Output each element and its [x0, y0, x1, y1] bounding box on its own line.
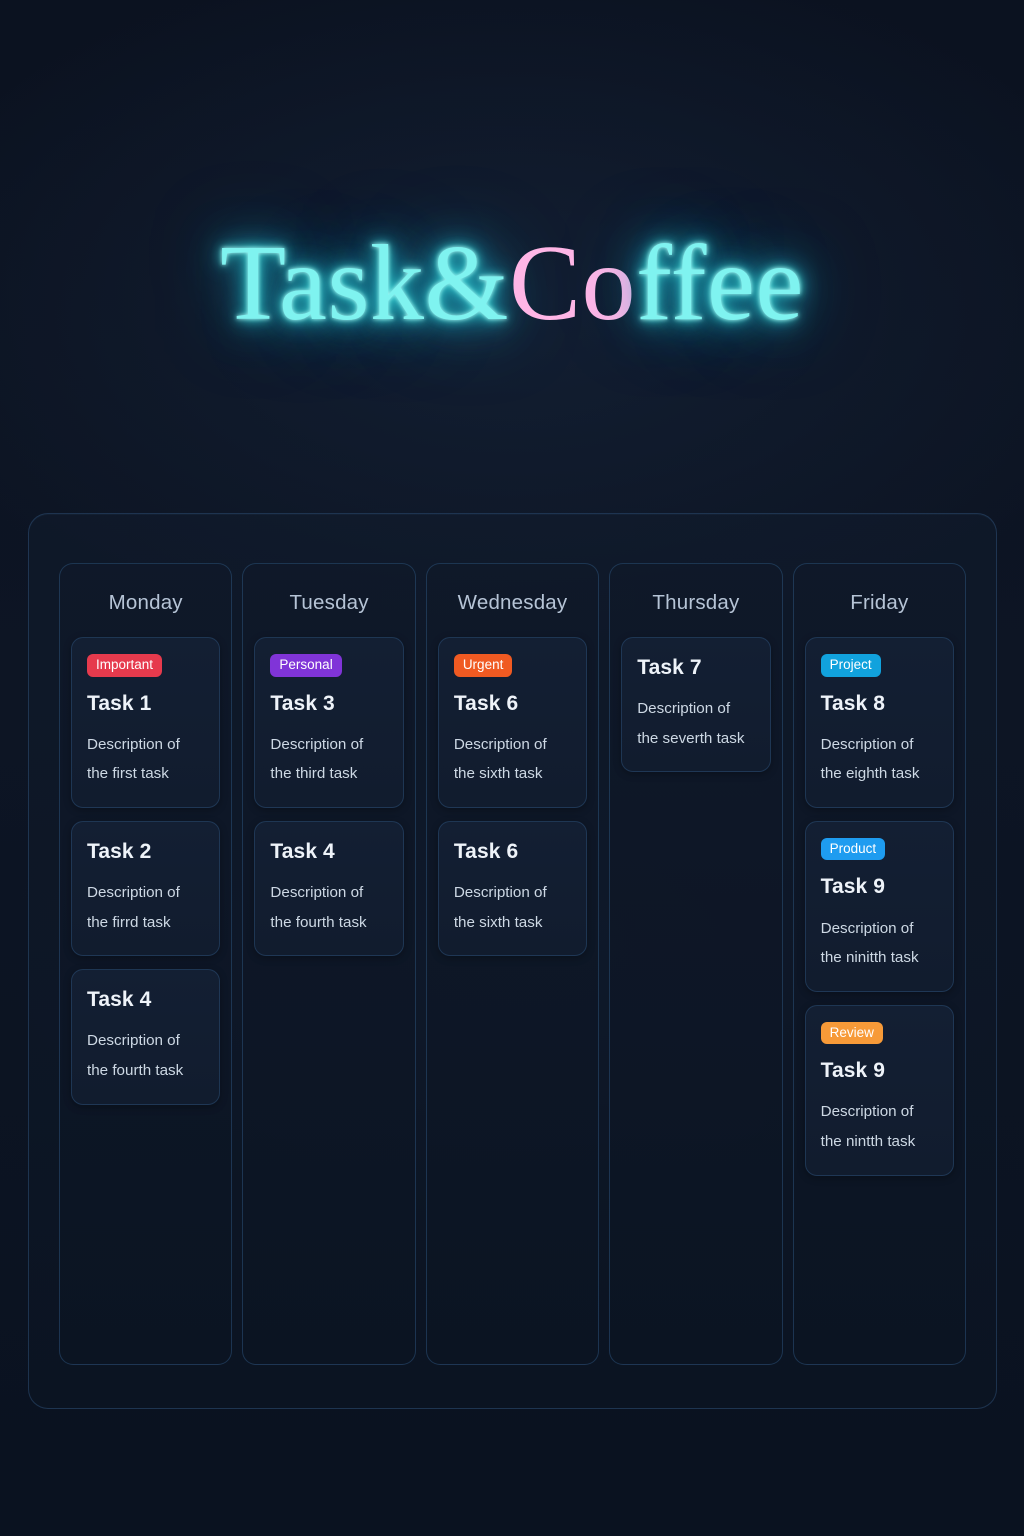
- task-title: Task 8: [821, 692, 938, 716]
- task-title: Task 7: [637, 656, 754, 680]
- task-tag-badge[interactable]: Personal: [270, 654, 341, 677]
- task-description: Description of the ninitth task: [821, 914, 938, 973]
- task-card[interactable]: Task 7Description of the severth task: [621, 637, 770, 772]
- title-segment-1: Co: [509, 224, 636, 343]
- task-title: Task 2: [87, 840, 204, 864]
- title-segment-2: ffee: [636, 224, 804, 343]
- day-column-header: Thursday: [621, 578, 770, 637]
- task-description: Description of the first task: [87, 730, 204, 789]
- task-tag-badge[interactable]: Review: [821, 1022, 883, 1045]
- task-card-list: UrgentTask 6Description of the sixth tas…: [438, 637, 587, 956]
- task-title: Task 1: [87, 692, 204, 716]
- task-tag-badge[interactable]: Product: [821, 838, 886, 861]
- task-card[interactable]: Task 4Description of the fourth task: [254, 821, 403, 956]
- task-tag-badge[interactable]: Project: [821, 654, 881, 677]
- day-column-header: Friday: [805, 578, 954, 637]
- day-column-friday[interactable]: FridayProjectTask 8Description of the ei…: [793, 563, 966, 1365]
- app-title: Task&Coffee: [220, 230, 804, 338]
- task-card[interactable]: ImportantTask 1Description of the first …: [71, 637, 220, 808]
- task-description: Description of the fourth task: [270, 878, 387, 937]
- task-title: Task 4: [270, 840, 387, 864]
- task-card-list: ProjectTask 8Description of the eighth t…: [805, 637, 954, 1176]
- task-card[interactable]: PersonalTask 3Description of the third t…: [254, 637, 403, 808]
- task-card-list: Task 7Description of the severth task: [621, 637, 770, 772]
- task-card[interactable]: Task 2Description of the firrd task: [71, 821, 220, 956]
- task-description: Description of the sixth task: [454, 730, 571, 789]
- task-description: Description of the sixth task: [454, 878, 571, 937]
- task-description: Description of the nintth task: [821, 1097, 938, 1156]
- task-card-list: ImportantTask 1Description of the first …: [71, 637, 220, 1105]
- task-title: Task 6: [454, 840, 571, 864]
- day-column-header: Tuesday: [254, 578, 403, 637]
- task-card[interactable]: ProjectTask 8Description of the eighth t…: [805, 637, 954, 808]
- day-column-monday[interactable]: MondayImportantTask 1Description of the …: [59, 563, 232, 1365]
- day-column-header: Wednesday: [438, 578, 587, 637]
- day-column-wednesday[interactable]: WednesdayUrgentTask 6Description of the …: [426, 563, 599, 1365]
- task-description: Description of the firrd task: [87, 878, 204, 937]
- day-column-header: Monday: [71, 578, 220, 637]
- day-column-tuesday[interactable]: TuesdayPersonalTask 3Description of the …: [242, 563, 415, 1365]
- task-card[interactable]: ProductTask 9Description of the ninitth …: [805, 821, 954, 992]
- task-card[interactable]: Task 4Description of the fourth task: [71, 969, 220, 1104]
- task-card[interactable]: ReviewTask 9Description of the nintth ta…: [805, 1005, 954, 1176]
- task-title: Task 4: [87, 988, 204, 1012]
- task-tag-badge[interactable]: Urgent: [454, 654, 513, 677]
- task-description: Description of the severth task: [637, 694, 754, 753]
- task-title: Task 9: [821, 1059, 938, 1083]
- task-title: Task 6: [454, 692, 571, 716]
- app-header: Task&Coffee: [0, 0, 1024, 520]
- task-title: Task 3: [270, 692, 387, 716]
- task-description: Description of the fourth task: [87, 1026, 204, 1085]
- day-columns: MondayImportantTask 1Description of the …: [59, 563, 966, 1365]
- task-tag-badge[interactable]: Important: [87, 654, 162, 677]
- task-description: Description of the eighth task: [821, 730, 938, 789]
- task-card[interactable]: Task 6Description of the sixth task: [438, 821, 587, 956]
- task-card-list: PersonalTask 3Description of the third t…: [254, 637, 403, 956]
- task-description: Description of the third task: [270, 730, 387, 789]
- day-column-thursday[interactable]: ThursdayTask 7Description of the severth…: [609, 563, 782, 1365]
- task-card[interactable]: UrgentTask 6Description of the sixth tas…: [438, 637, 587, 808]
- task-title: Task 9: [821, 875, 938, 899]
- title-segment-0: Task&: [220, 224, 509, 343]
- task-board: MondayImportantTask 1Description of the …: [28, 513, 997, 1409]
